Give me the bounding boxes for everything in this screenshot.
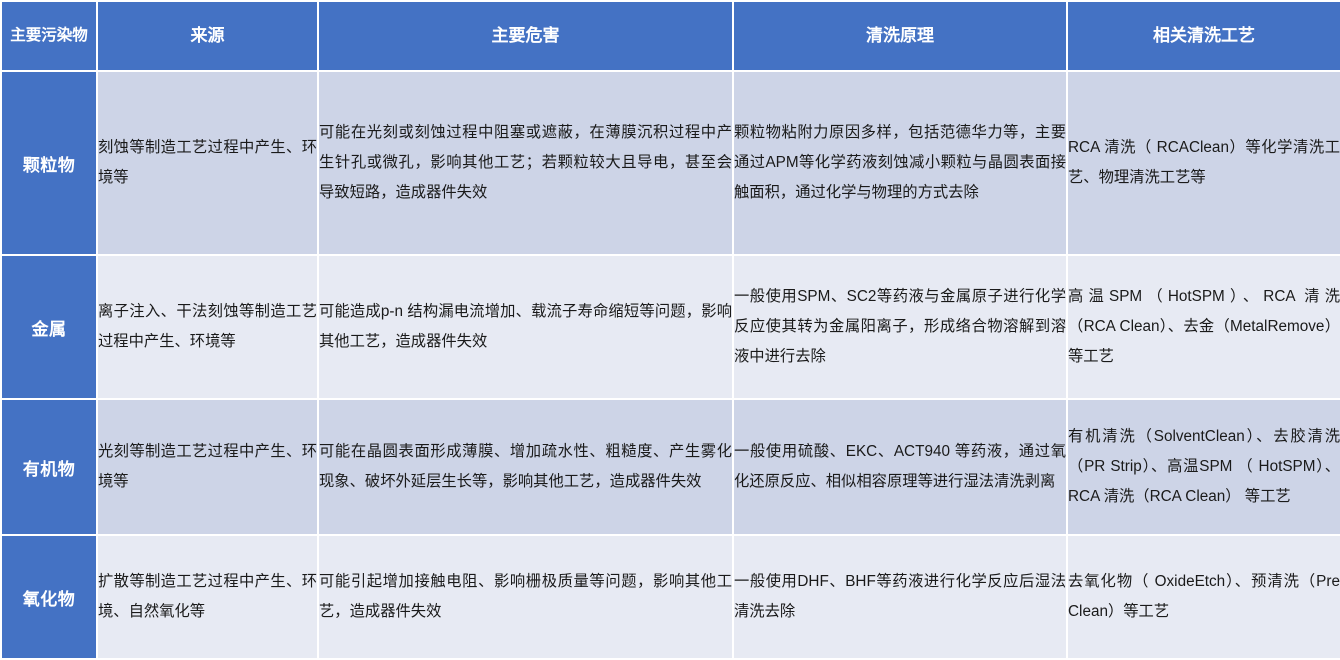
column-header-harm: 主要危害: [318, 1, 733, 71]
column-header-source: 来源: [97, 1, 318, 71]
cell-source: 离子注入、干法刻蚀等制造工艺过程中产生、环境等: [97, 255, 318, 399]
table-body: 颗粒物 刻蚀等制造工艺过程中产生、环境等 可能在光刻或刻蚀过程中阻塞或遮蔽，在薄…: [1, 71, 1340, 659]
table-row: 金属 离子注入、干法刻蚀等制造工艺过程中产生、环境等 可能造成p-n 结构漏电流…: [1, 255, 1340, 399]
cell-harm: 可能引起增加接触电阻、影响栅极质量等问题，影响其他工艺，造成器件失效: [318, 535, 733, 659]
cell-source: 扩散等制造工艺过程中产生、环境、自然氧化等: [97, 535, 318, 659]
cell-process: RCA 清洗（ RCAClean）等化学清洗工艺、物理清洗工艺等: [1067, 71, 1340, 255]
cell-principle: 一般使用硫酸、EKC、ACT940 等药液，通过氧化还原反应、相似相容原理等进行…: [733, 399, 1067, 535]
table-row: 有机物 光刻等制造工艺过程中产生、环境等 可能在晶圆表面形成薄膜、增加疏水性、粗…: [1, 399, 1340, 535]
table-row: 氧化物 扩散等制造工艺过程中产生、环境、自然氧化等 可能引起增加接触电阻、影响栅…: [1, 535, 1340, 659]
category-label-metal: 金属: [1, 255, 97, 399]
contaminant-cleaning-table: 主要污染物 来源 主要危害 清洗原理 相关清洗工艺 颗粒物 刻蚀等制造工艺过程中…: [0, 0, 1340, 660]
table-header: 主要污染物 来源 主要危害 清洗原理 相关清洗工艺: [1, 1, 1340, 71]
cell-harm: 可能在晶圆表面形成薄膜、增加疏水性、粗糙度、产生雾化现象、破坏外延层生长等，影响…: [318, 399, 733, 535]
cell-process: 去氧化物（ OxideEtch）、预清洗（Pre Clean）等工艺: [1067, 535, 1340, 659]
header-row: 主要污染物 来源 主要危害 清洗原理 相关清洗工艺: [1, 1, 1340, 71]
cell-principle: 颗粒物粘附力原因多样，包括范德华力等，主要通过APM等化学药液刻蚀减小颗粒与晶圆…: [733, 71, 1067, 255]
table-row: 颗粒物 刻蚀等制造工艺过程中产生、环境等 可能在光刻或刻蚀过程中阻塞或遮蔽，在薄…: [1, 71, 1340, 255]
cell-harm: 可能在光刻或刻蚀过程中阻塞或遮蔽，在薄膜沉积过程中产生针孔或微孔，影响其他工艺；…: [318, 71, 733, 255]
column-header-process: 相关清洗工艺: [1067, 1, 1340, 71]
category-label-organics: 有机物: [1, 399, 97, 535]
cell-source: 光刻等制造工艺过程中产生、环境等: [97, 399, 318, 535]
cell-principle: 一般使用SPM、SC2等药液与金属原子进行化学反应使其转为金属阳离子，形成络合物…: [733, 255, 1067, 399]
cell-process: 有机清洗（SolventClean）、去胶清洗（PR Strip）、高温SPM …: [1067, 399, 1340, 535]
category-label-particles: 颗粒物: [1, 71, 97, 255]
category-label-oxides: 氧化物: [1, 535, 97, 659]
cell-principle: 一般使用DHF、BHF等药液进行化学反应后湿法清洗去除: [733, 535, 1067, 659]
cell-process: 高温SPM（HotSPM）、RCA 清洗（RCA Clean）、去金（Metal…: [1067, 255, 1340, 399]
column-header-pollutant: 主要污染物: [1, 1, 97, 71]
cell-source: 刻蚀等制造工艺过程中产生、环境等: [97, 71, 318, 255]
cell-harm: 可能造成p-n 结构漏电流增加、载流子寿命缩短等问题，影响其他工艺，造成器件失效: [318, 255, 733, 399]
column-header-principle: 清洗原理: [733, 1, 1067, 71]
